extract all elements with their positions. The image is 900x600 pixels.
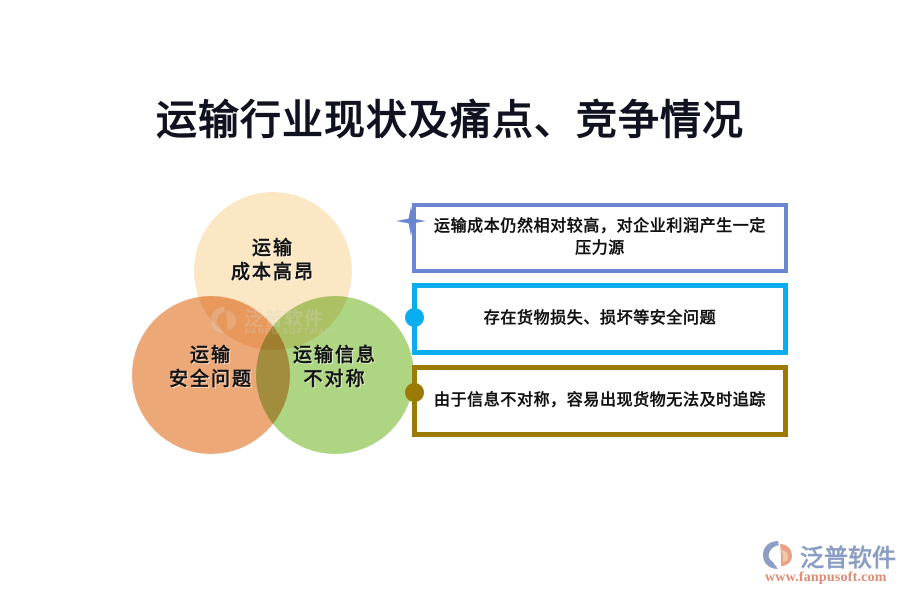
venn-label-transport-cost: 运输 成本高昂 <box>208 237 338 286</box>
callout-box-transport-safety[interactable]: 存在货物损失、损坏等安全问题 <box>412 283 788 355</box>
callout-text: 运输成本仍然相对较高，对企业利润产生一定压力源 <box>416 216 784 259</box>
callout-text: 存在货物损失、损坏等安全问题 <box>468 308 732 330</box>
brand-logo[interactable]: 泛普软件 www.fanpusoft.com <box>762 538 894 592</box>
venn-label-line1: 运输信息 <box>244 344 426 368</box>
bullet-dot-icon <box>405 308 424 327</box>
brand-name: 泛普软件 <box>800 538 896 573</box>
venn-label-line2: 成本高昂 <box>208 261 338 285</box>
venn-label-line2: 不对称 <box>244 368 426 392</box>
callout-box-cargo-tracking[interactable]: 由于信息不对称，容易出现货物无法及时追踪 <box>412 365 788 437</box>
callout-text: 由于信息不对称，容易出现货物无法及时追踪 <box>418 390 782 412</box>
venn-label-information-asymmetry: 运输信息 不对称 <box>244 344 426 393</box>
bullet-dot-icon <box>405 383 424 402</box>
page-title: 运输行业现状及痛点、竞争情况 <box>0 86 900 146</box>
venn-diagram: 泛普软件 FANPU SOFTWARE 运输 成本高昂 运输 安全问题 运输信息… <box>132 192 412 452</box>
venn-label-line1: 运输 <box>208 237 338 261</box>
callout-box-transport-cost[interactable]: 运输成本仍然相对较高，对企业利润产生一定压力源 <box>412 203 788 273</box>
brand-url: www.fanpusoft.com <box>765 570 887 586</box>
sparkle-icon <box>396 206 426 236</box>
fanpu-swoosh-icon <box>762 540 796 570</box>
